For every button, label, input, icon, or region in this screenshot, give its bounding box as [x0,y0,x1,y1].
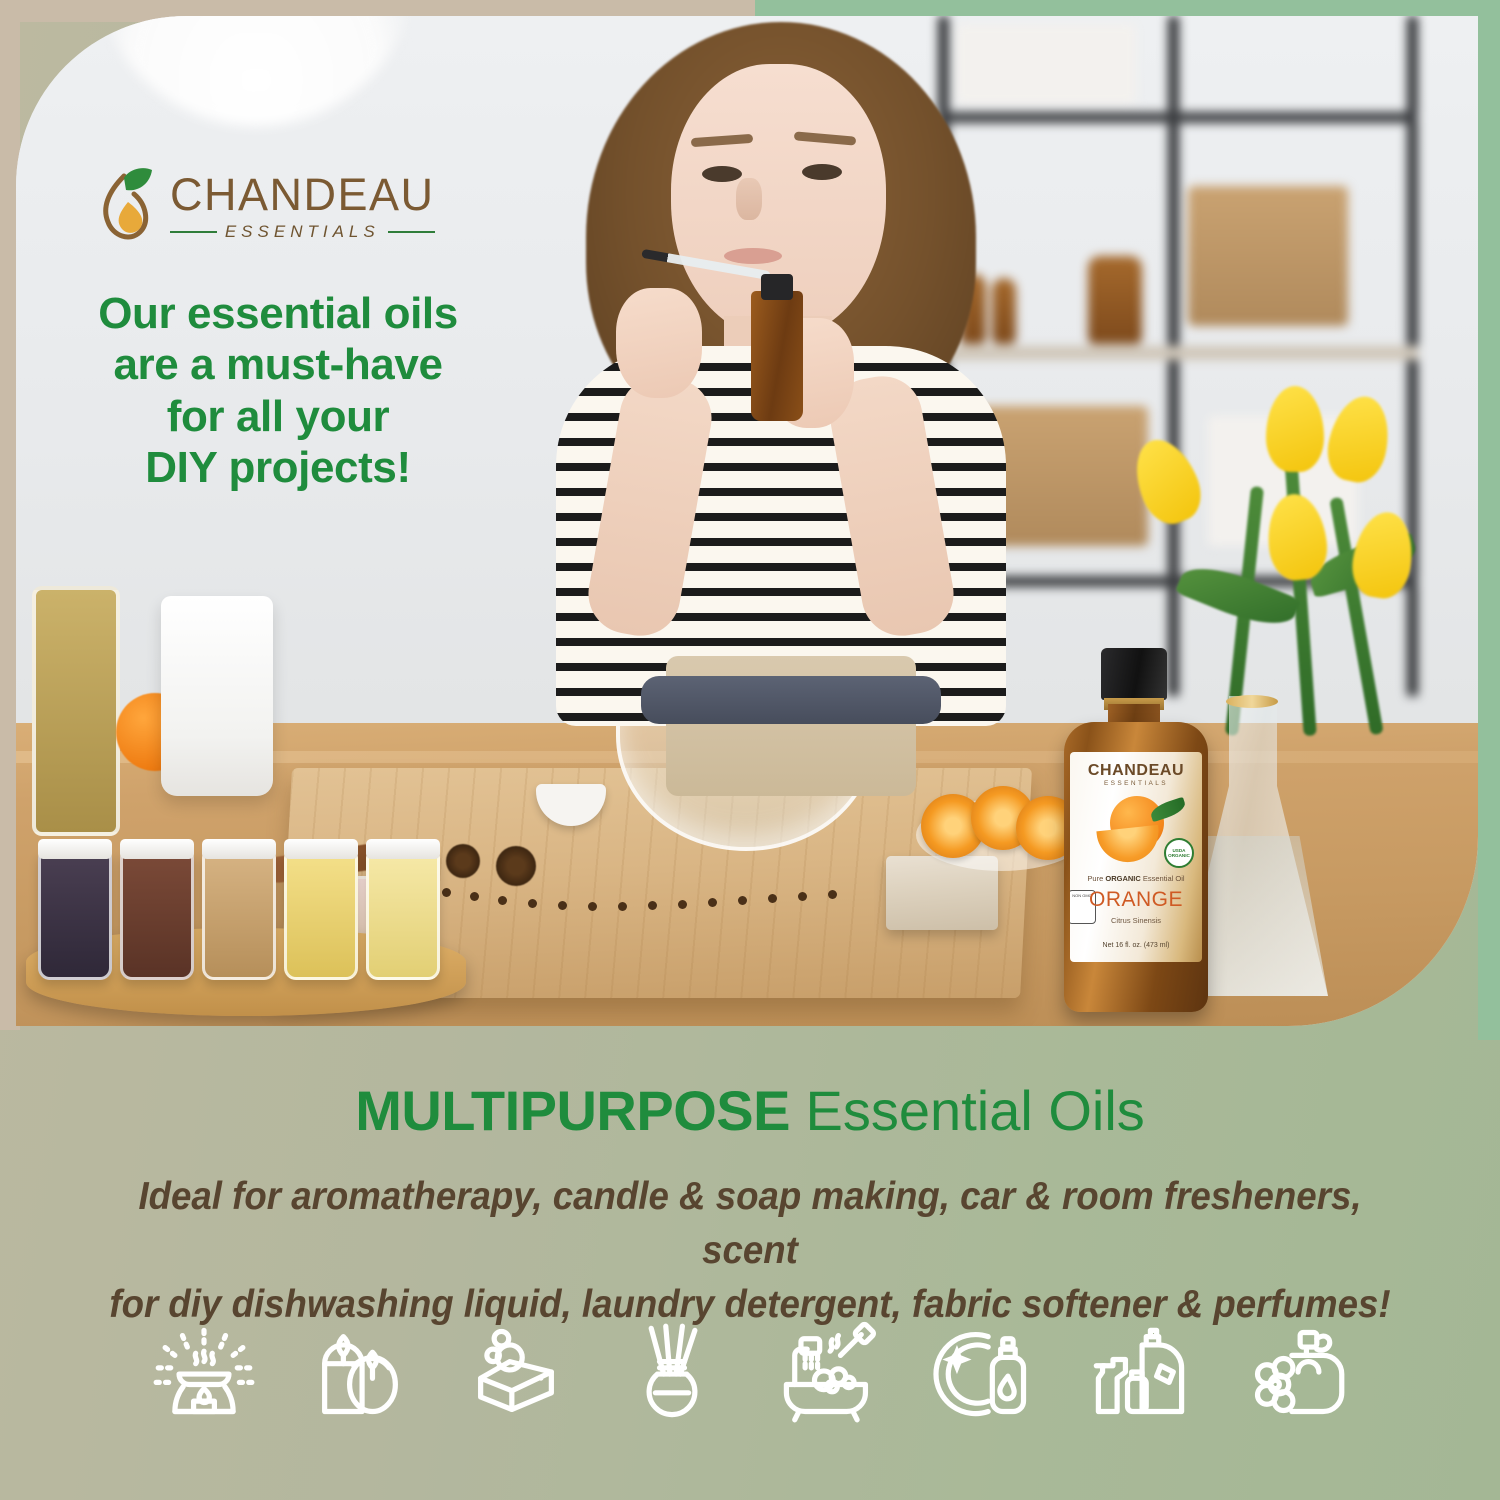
description-line-1: Ideal for aromatherapy, candle & soap ma… [87,1170,1412,1278]
ingredient-jar [284,850,358,980]
bottle-label: CHANDEAU ESSENTIALS USDA ORGANIC NON GMO… [1070,752,1202,962]
poster-canvas: CHANDEAU ESSENTIALS USDA ORGANIC NON GMO… [0,0,1500,1500]
brand-rule-right [388,231,435,233]
soap-bar-icon [464,1320,568,1424]
clove-trail [436,870,866,916]
dish-soap-sparkle-icon [932,1320,1036,1424]
uses-icon-row [0,1320,1500,1424]
brand-rule-left [170,231,217,233]
brand-logo-block: CHANDEAU ESSENTIALS [94,166,514,248]
nose [736,178,762,220]
uses-description: Ideal for aromatherapy, candle & soap ma… [87,1170,1412,1331]
headline-line-2: are a must-have [68,339,488,390]
headline-line-4: DIY projects! [68,442,488,493]
usda-organic-badge: USDA ORGANIC [1164,838,1194,868]
candle-icon [308,1320,412,1424]
label-descriptor: Pure ORGANIC Essential Oil [1070,874,1202,883]
eye-right [802,164,842,180]
product-bottle: CHANDEAU ESSENTIALS USDA ORGANIC NON GMO… [1056,648,1216,1018]
herb-storage-tube [32,586,120,836]
label-latin-name: Citrus Sinensis [1070,916,1202,925]
multipurpose-title: MULTIPURPOSE Essential Oils [0,1078,1500,1143]
amber-dropper-bottle [751,291,803,421]
bottle-cap [1101,648,1167,700]
hero-headline: Our essential oils are a must-have for a… [68,288,488,494]
apron-tie [641,676,941,724]
mouth [724,248,782,264]
frame-band-right [1478,0,1500,1040]
label-logo: CHANDEAU ESSENTIALS [1070,762,1202,787]
brand-tagline: ESSENTIALS [225,222,380,242]
label-net-contents: Net 16 fl. oz. (473 ml) [1070,942,1202,949]
milk-jar [161,596,273,796]
label-brand-name: CHANDEAU [1070,762,1202,780]
hand-left [616,288,702,398]
spray-detergent-icon [1088,1320,1192,1424]
ingredient-jar [202,850,276,980]
headline-line-1: Our essential oils [68,288,488,339]
perfume-flower-icon [1244,1320,1348,1424]
title-bold: MULTIPURPOSE [355,1079,790,1142]
ingredient-jar [366,850,440,980]
title-light: Essential Oils [806,1079,1145,1142]
eye-left [702,166,742,182]
ingredient-jar [120,850,194,980]
ingredient-jar [38,850,112,980]
brand-name: CHANDEAU [170,172,435,217]
oil-drop-leaf-logo-icon [94,166,156,248]
label-oil-name: ORANGE [1070,888,1202,912]
headline-line-3: for all your [68,391,488,442]
bottom-panel: MULTIPURPOSE Essential Oils Ideal for ar… [0,1030,1500,1500]
hero-photo: CHANDEAU ESSENTIALS USDA ORGANIC NON GMO… [16,16,1478,1026]
bath-dropper-icon [776,1320,880,1424]
oil-burner-diffuser-icon [152,1320,256,1424]
label-brand-sub: ESSENTIALS [1070,780,1202,787]
carafe-gold-rim [1226,695,1278,708]
dropper-cap [761,274,793,300]
person-smelling-oil [546,16,1016,776]
reed-diffuser-icon [620,1320,724,1424]
